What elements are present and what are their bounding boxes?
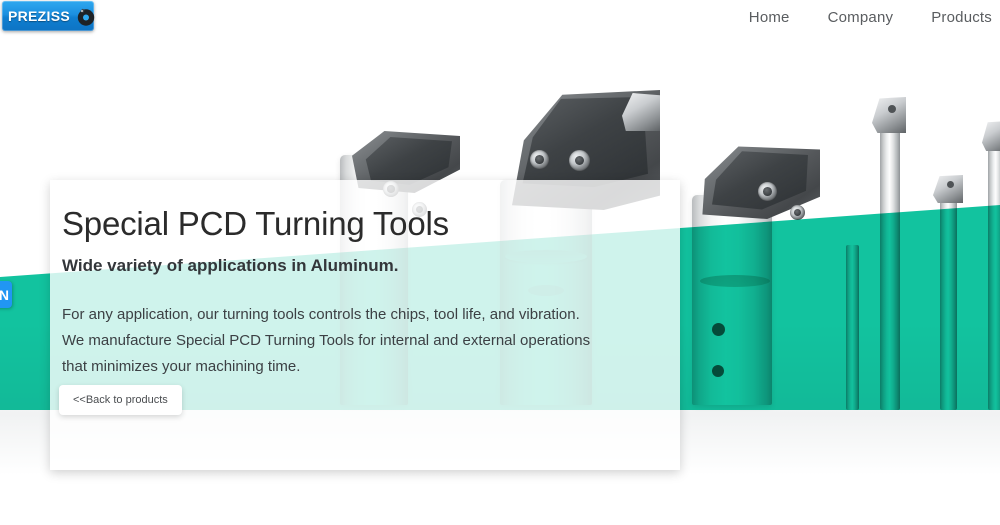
hero-description-line-3: that minimizes your machining time. bbox=[62, 354, 650, 380]
site-header: PREZISS Home Company Products bbox=[0, 0, 1000, 35]
page-title: Special PCD Turning Tools bbox=[62, 206, 650, 242]
nav-link-home[interactable]: Home bbox=[749, 9, 790, 26]
hero-description: For any application, our turning tools c… bbox=[62, 302, 650, 380]
page-root: PREZISS Home Company Products N Special … bbox=[0, 0, 1000, 525]
back-to-products-button[interactable]: <<Back to products bbox=[59, 385, 182, 415]
logo-wordmark: PREZISS bbox=[8, 8, 70, 24]
hero-content-inner: Special PCD Turning Tools Wide variety o… bbox=[50, 180, 680, 380]
language-selector-label: N bbox=[0, 287, 9, 303]
language-selector-tab[interactable]: N bbox=[0, 281, 12, 308]
hero-description-line-2: We manufacture Special PCD Turning Tools… bbox=[62, 328, 650, 354]
hero-content-card: Special PCD Turning Tools Wide variety o… bbox=[50, 180, 680, 470]
page-subtitle: Wide variety of applications in Aluminum… bbox=[62, 256, 650, 276]
nav-link-company[interactable]: Company bbox=[828, 9, 894, 26]
main-navigation: Home Company Products bbox=[749, 0, 992, 35]
disc-logo-icon bbox=[72, 4, 96, 28]
nav-link-products[interactable]: Products bbox=[931, 9, 992, 26]
preziss-logo[interactable]: PREZISS bbox=[2, 1, 94, 31]
hero-description-line-1: For any application, our turning tools c… bbox=[62, 302, 650, 328]
